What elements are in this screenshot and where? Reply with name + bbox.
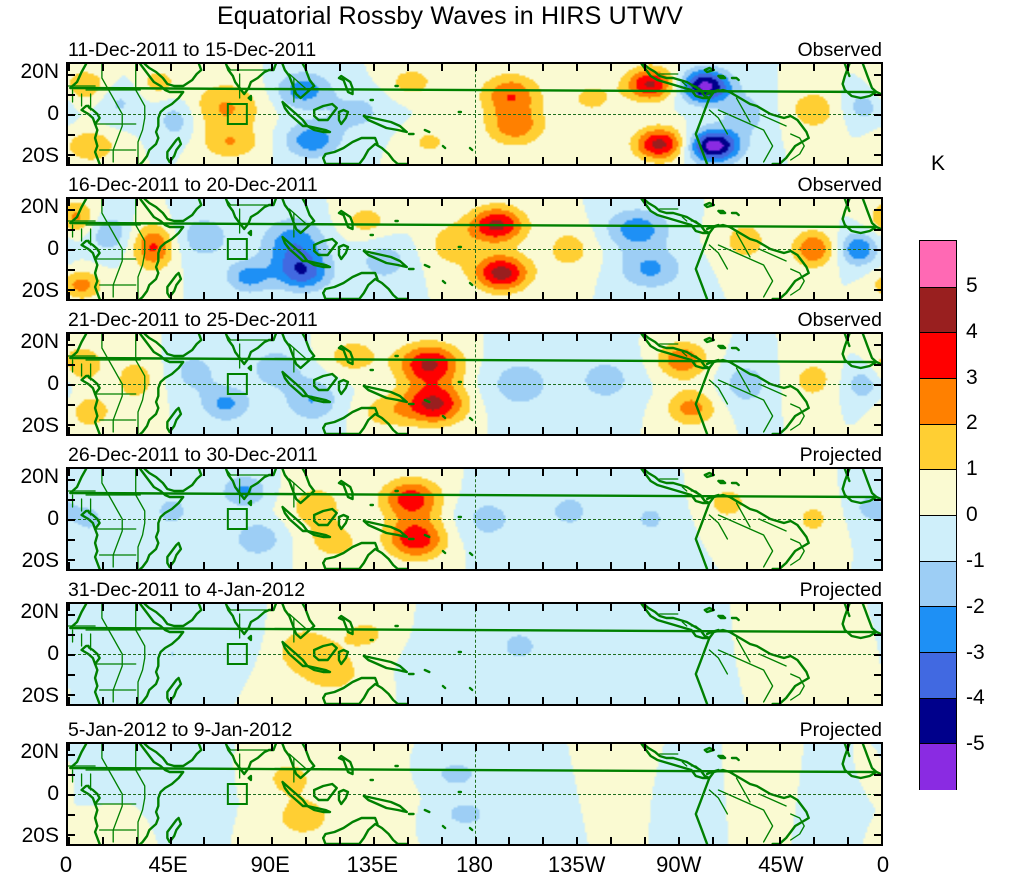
x-tick-mark	[407, 64, 409, 71]
x-tick-mark	[339, 334, 341, 341]
x-tick-mark	[881, 744, 883, 751]
x-tick-mark	[441, 744, 443, 751]
x-tick-mark	[305, 157, 307, 164]
x-tick-mark	[542, 837, 544, 844]
y-tick-mark	[874, 249, 881, 251]
x-tick-mark	[712, 837, 714, 844]
x-axis-tick-label: 135W	[548, 852, 605, 878]
x-tick-mark	[237, 697, 239, 704]
y-tick-mark	[68, 519, 75, 521]
x-tick-mark	[610, 837, 612, 844]
x-tick-mark	[712, 427, 714, 434]
colorbar-tick-label: 5	[966, 274, 978, 298]
x-tick-mark	[508, 744, 510, 751]
x-tick-mark	[542, 697, 544, 704]
x-tick-mark	[102, 562, 104, 569]
panel-date-range: 5-Jan-2012 to 9-Jan-2012	[68, 719, 292, 742]
y-axis-tick-label: 0	[47, 507, 59, 531]
x-tick-mark	[813, 562, 815, 569]
x-tick-mark	[610, 427, 612, 434]
x-tick-mark	[644, 292, 646, 299]
x-tick-mark	[271, 64, 273, 71]
x-tick-mark	[610, 334, 612, 341]
x-tick-mark	[813, 744, 815, 751]
x-tick-mark	[407, 199, 409, 206]
x-tick-mark	[237, 427, 239, 434]
x-tick-mark	[847, 469, 849, 476]
x-tick-mark	[746, 837, 748, 844]
y-tick-mark	[874, 479, 881, 481]
y-tick-mark	[68, 559, 75, 561]
x-tick-mark	[746, 697, 748, 704]
colorbar-band	[920, 652, 956, 699]
x-tick-mark	[339, 744, 341, 751]
x-tick-mark	[170, 427, 172, 434]
y-axis-tick-label: 20S	[22, 824, 59, 848]
x-tick-mark	[237, 604, 239, 611]
x-tick-mark	[102, 199, 104, 206]
x-tick-mark	[881, 292, 883, 299]
x-tick-mark	[102, 744, 104, 751]
x-tick-mark	[542, 562, 544, 569]
x-tick-mark	[102, 292, 104, 299]
x-tick-mark	[373, 157, 375, 164]
x-tick-mark	[644, 562, 646, 569]
x-tick-mark	[508, 837, 510, 844]
x-tick-mark	[678, 199, 680, 206]
panel-date-range: 21-Dec-2011 to 25-Dec-2011	[68, 309, 318, 332]
x-tick-mark	[644, 427, 646, 434]
x-tick-mark	[508, 292, 510, 299]
y-axis-tick-label: 0	[47, 237, 59, 261]
x-tick-mark	[373, 427, 375, 434]
y-tick-mark	[874, 134, 881, 136]
map-panel: 31-Dec-2011 to 4-Jan-2012Projected20N020…	[66, 602, 883, 706]
x-tick-mark	[203, 334, 205, 341]
x-tick-mark	[779, 427, 781, 434]
x-tick-mark	[136, 427, 138, 434]
x-tick-mark	[170, 334, 172, 341]
x-tick-mark	[170, 469, 172, 476]
x-tick-mark	[68, 334, 70, 341]
y-tick-mark	[68, 834, 75, 836]
x-tick-mark	[237, 469, 239, 476]
x-tick-mark	[170, 157, 172, 164]
x-tick-mark	[610, 64, 612, 71]
dateline-marker	[475, 604, 476, 704]
dateline-marker	[475, 469, 476, 569]
x-tick-mark	[746, 292, 748, 299]
x-tick-mark	[68, 469, 70, 476]
panel-status-label: Observed	[797, 309, 882, 332]
x-tick-mark	[203, 837, 205, 844]
y-axis-tick-label: 20S	[22, 549, 59, 573]
x-tick-mark	[644, 64, 646, 71]
x-tick-mark	[610, 199, 612, 206]
x-tick-mark	[610, 157, 612, 164]
x-tick-mark	[271, 604, 273, 611]
x-tick-mark	[339, 199, 341, 206]
region-box-marker	[227, 508, 247, 530]
colorbar-unit-label: K	[919, 152, 957, 176]
x-tick-mark	[339, 562, 341, 569]
y-tick-mark	[68, 249, 75, 251]
x-tick-mark	[847, 334, 849, 341]
x-tick-mark	[576, 157, 578, 164]
x-tick-mark	[847, 562, 849, 569]
x-tick-mark	[441, 697, 443, 704]
x-tick-mark	[271, 697, 273, 704]
x-tick-mark	[678, 744, 680, 751]
panel-date-range: 31-Dec-2011 to 4-Jan-2012	[68, 579, 305, 602]
x-tick-mark	[339, 469, 341, 476]
x-tick-mark	[847, 427, 849, 434]
x-tick-mark	[305, 199, 307, 206]
x-tick-mark	[881, 837, 883, 844]
x-tick-mark	[407, 157, 409, 164]
x-tick-mark	[746, 64, 748, 71]
x-tick-mark	[68, 562, 70, 569]
region-box-marker	[227, 783, 247, 805]
y-tick-mark	[68, 614, 75, 616]
x-tick-mark	[847, 604, 849, 611]
y-tick-mark	[874, 154, 881, 156]
x-tick-mark	[305, 334, 307, 341]
x-tick-mark	[339, 292, 341, 299]
y-tick-mark	[874, 114, 881, 116]
x-tick-mark	[441, 604, 443, 611]
y-axis-tick-label: 20N	[20, 600, 59, 624]
colorbar-band	[920, 424, 956, 471]
x-tick-mark	[779, 604, 781, 611]
x-tick-mark	[576, 837, 578, 844]
y-axis-tick-label: 20N	[20, 330, 59, 354]
x-tick-mark	[237, 199, 239, 206]
x-tick-mark	[407, 744, 409, 751]
colorbar-band	[920, 743, 956, 790]
x-tick-mark	[305, 604, 307, 611]
y-tick-mark	[68, 674, 75, 676]
y-axis-tick-label: 20S	[22, 279, 59, 303]
dateline-marker	[475, 334, 476, 434]
region-box-marker	[227, 238, 247, 260]
x-tick-mark	[779, 469, 781, 476]
x-tick-mark	[203, 292, 205, 299]
colorbar-tick-label: 1	[966, 457, 978, 481]
x-tick-mark	[373, 604, 375, 611]
x-tick-mark	[339, 427, 341, 434]
x-tick-mark	[237, 334, 239, 341]
x-tick-mark	[102, 157, 104, 164]
x-tick-mark	[373, 292, 375, 299]
x-tick-mark	[68, 427, 70, 434]
x-tick-mark	[441, 64, 443, 71]
y-tick-mark	[68, 634, 75, 636]
y-tick-mark	[874, 654, 881, 656]
x-tick-mark	[475, 292, 477, 299]
x-tick-mark	[203, 697, 205, 704]
x-tick-mark	[610, 292, 612, 299]
x-tick-mark	[170, 744, 172, 751]
x-tick-mark	[610, 697, 612, 704]
y-tick-mark	[874, 674, 881, 676]
y-tick-mark	[874, 539, 881, 541]
x-tick-mark	[305, 744, 307, 751]
x-axis-tick-label: 0	[877, 852, 889, 878]
y-tick-mark	[874, 774, 881, 776]
x-tick-mark	[271, 837, 273, 844]
colorbar-band	[920, 606, 956, 653]
x-tick-mark	[271, 562, 273, 569]
x-tick-mark	[678, 469, 680, 476]
colorbar-band	[920, 469, 956, 516]
x-tick-mark	[712, 744, 714, 751]
x-tick-mark	[508, 199, 510, 206]
y-tick-mark	[874, 794, 881, 796]
y-axis-tick-label: 20N	[20, 60, 59, 84]
map-frame	[66, 197, 883, 301]
x-tick-mark	[136, 744, 138, 751]
panel-status-label: Observed	[797, 174, 882, 197]
y-tick-mark	[874, 404, 881, 406]
x-tick-mark	[746, 469, 748, 476]
x-tick-mark	[644, 744, 646, 751]
x-tick-mark	[170, 604, 172, 611]
x-tick-mark	[881, 427, 883, 434]
x-tick-mark	[712, 334, 714, 341]
x-tick-mark	[576, 469, 578, 476]
x-tick-mark	[102, 697, 104, 704]
colorbar-tick-label: 4	[966, 320, 978, 344]
x-tick-mark	[441, 334, 443, 341]
x-tick-mark	[102, 837, 104, 844]
x-tick-mark	[68, 64, 70, 71]
x-tick-mark	[237, 837, 239, 844]
y-axis-tick-label: 20N	[20, 740, 59, 764]
x-tick-mark	[102, 604, 104, 611]
y-axis-tick-label: 0	[47, 372, 59, 396]
region-box-marker	[227, 643, 247, 665]
x-tick-mark	[407, 334, 409, 341]
y-axis-tick-label: 20N	[20, 465, 59, 489]
x-tick-mark	[712, 697, 714, 704]
x-tick-mark	[305, 837, 307, 844]
x-tick-mark	[68, 199, 70, 206]
map-frame	[66, 332, 883, 436]
x-tick-mark	[847, 744, 849, 751]
x-tick-mark	[542, 199, 544, 206]
y-tick-mark	[68, 344, 75, 346]
x-tick-mark	[475, 469, 477, 476]
x-tick-mark	[746, 604, 748, 611]
x-tick-mark	[576, 697, 578, 704]
x-tick-mark	[407, 469, 409, 476]
x-tick-mark	[203, 64, 205, 71]
x-tick-mark	[644, 697, 646, 704]
y-tick-mark	[874, 384, 881, 386]
x-tick-mark	[237, 744, 239, 751]
x-tick-mark	[542, 292, 544, 299]
x-tick-mark	[339, 697, 341, 704]
x-tick-mark	[678, 562, 680, 569]
x-tick-mark	[373, 469, 375, 476]
colorbar	[919, 240, 957, 790]
x-tick-mark	[881, 562, 883, 569]
y-tick-mark	[68, 134, 75, 136]
x-tick-mark	[847, 199, 849, 206]
x-tick-mark	[779, 199, 781, 206]
x-tick-mark	[475, 199, 477, 206]
x-tick-mark	[508, 64, 510, 71]
x-axis-tick-label: 90W	[656, 852, 701, 878]
x-tick-mark	[576, 744, 578, 751]
colorbar-tick-label: 0	[966, 503, 978, 527]
y-tick-mark	[68, 114, 75, 116]
x-tick-mark	[136, 292, 138, 299]
x-tick-mark	[407, 562, 409, 569]
x-tick-mark	[813, 604, 815, 611]
x-tick-mark	[610, 469, 612, 476]
y-axis-tick-label: 20N	[20, 195, 59, 219]
x-tick-mark	[508, 469, 510, 476]
map-frame	[66, 467, 883, 571]
x-tick-mark	[271, 292, 273, 299]
x-tick-mark	[136, 199, 138, 206]
colorbar-band	[920, 332, 956, 379]
x-tick-mark	[542, 64, 544, 71]
y-tick-mark	[68, 424, 75, 426]
y-tick-mark	[68, 754, 75, 756]
x-tick-mark	[881, 157, 883, 164]
x-tick-mark	[779, 64, 781, 71]
x-tick-mark	[475, 334, 477, 341]
map-panel: 16-Dec-2011 to 20-Dec-2011Observed20N020…	[66, 197, 883, 301]
x-tick-mark	[508, 157, 510, 164]
x-tick-mark	[305, 562, 307, 569]
x-tick-mark	[441, 199, 443, 206]
x-tick-mark	[779, 697, 781, 704]
x-tick-mark	[339, 157, 341, 164]
x-tick-mark	[373, 562, 375, 569]
x-tick-mark	[373, 837, 375, 844]
x-tick-mark	[576, 292, 578, 299]
x-tick-mark	[847, 292, 849, 299]
x-tick-mark	[407, 697, 409, 704]
x-tick-mark	[542, 604, 544, 611]
colorbar-band	[920, 241, 956, 287]
x-tick-mark	[237, 562, 239, 569]
x-tick-mark	[644, 469, 646, 476]
x-tick-mark	[712, 157, 714, 164]
y-tick-mark	[68, 94, 75, 96]
x-tick-mark	[170, 199, 172, 206]
x-tick-mark	[305, 64, 307, 71]
colorbar-tick-label: -3	[966, 641, 985, 665]
panel-date-range: 16-Dec-2011 to 20-Dec-2011	[68, 174, 318, 197]
y-tick-mark	[874, 754, 881, 756]
x-tick-mark	[712, 199, 714, 206]
x-tick-mark	[68, 697, 70, 704]
x-tick-mark	[678, 64, 680, 71]
panel-date-range: 11-Dec-2011 to 15-Dec-2011	[68, 39, 316, 62]
x-axis-tick-label: 135E	[347, 852, 398, 878]
y-tick-mark	[874, 289, 881, 291]
x-tick-mark	[271, 744, 273, 751]
panel-status-label: Projected	[800, 444, 882, 467]
x-tick-mark	[813, 469, 815, 476]
x-tick-mark	[136, 64, 138, 71]
y-axis-tick-label: 0	[47, 102, 59, 126]
x-tick-mark	[881, 604, 883, 611]
x-tick-mark	[407, 292, 409, 299]
colorbar-band	[920, 287, 956, 334]
x-tick-mark	[779, 837, 781, 844]
page-title: Equatorial Rossby Waves in HIRS UTWV	[0, 2, 900, 31]
x-tick-mark	[610, 744, 612, 751]
x-tick-mark	[576, 199, 578, 206]
x-tick-mark	[678, 427, 680, 434]
x-tick-mark	[542, 744, 544, 751]
x-tick-mark	[644, 157, 646, 164]
y-axis-tick-label: 20S	[22, 144, 59, 168]
x-tick-mark	[542, 469, 544, 476]
x-tick-mark	[813, 157, 815, 164]
x-tick-mark	[475, 604, 477, 611]
colorbar-tick-label: -4	[966, 686, 985, 710]
x-tick-mark	[305, 469, 307, 476]
x-axis-tick-label: 45E	[149, 852, 188, 878]
x-tick-mark	[170, 697, 172, 704]
y-tick-mark	[68, 74, 75, 76]
y-tick-mark	[874, 614, 881, 616]
x-tick-mark	[779, 562, 781, 569]
map-frame	[66, 602, 883, 706]
y-tick-mark	[68, 154, 75, 156]
x-tick-mark	[237, 64, 239, 71]
x-tick-mark	[271, 427, 273, 434]
x-tick-mark	[678, 697, 680, 704]
x-tick-mark	[746, 562, 748, 569]
y-tick-mark	[874, 559, 881, 561]
y-tick-mark	[874, 634, 881, 636]
map-panel: 5-Jan-2012 to 9-Jan-2012Projected20N020S	[66, 742, 883, 846]
y-axis-tick-label: 0	[47, 642, 59, 666]
x-tick-mark	[475, 157, 477, 164]
x-tick-mark	[68, 292, 70, 299]
map-panel: 21-Dec-2011 to 25-Dec-2011Observed20N020…	[66, 332, 883, 436]
x-tick-mark	[373, 64, 375, 71]
x-tick-mark	[102, 469, 104, 476]
x-tick-mark	[678, 837, 680, 844]
panel-status-label: Observed	[797, 39, 882, 62]
x-tick-mark	[136, 697, 138, 704]
map-panel: 11-Dec-2011 to 15-Dec-2011Observed20N020…	[66, 62, 883, 166]
y-axis-tick-label: 20S	[22, 684, 59, 708]
x-tick-mark	[881, 199, 883, 206]
x-tick-mark	[813, 697, 815, 704]
x-tick-mark	[203, 157, 205, 164]
x-tick-mark	[136, 334, 138, 341]
y-tick-mark	[68, 229, 75, 231]
y-tick-mark	[68, 269, 75, 271]
x-tick-mark	[746, 157, 748, 164]
x-tick-mark	[373, 744, 375, 751]
x-tick-mark	[203, 199, 205, 206]
x-tick-mark	[441, 427, 443, 434]
x-tick-mark	[508, 604, 510, 611]
y-tick-mark	[874, 834, 881, 836]
x-tick-mark	[644, 604, 646, 611]
